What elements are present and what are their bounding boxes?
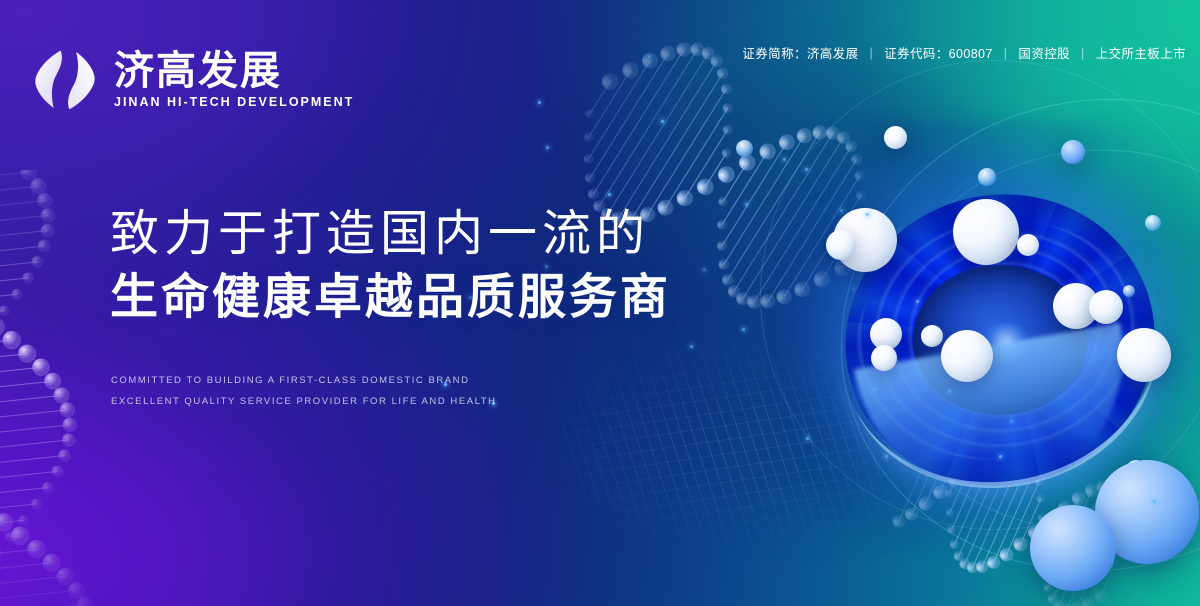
page-title: 致力于打造国内一流的 生命健康卓越品质服务商 xyxy=(110,206,671,326)
brand-logo[interactable]: 济高发展 JINAN HI-TECH DEVELOPMENT xyxy=(30,45,354,115)
jinan-hi-tech-diamond-logo-icon xyxy=(30,45,100,115)
stock-info-item: 证券代码：600807 xyxy=(884,43,993,62)
stock-info-bar: 证券简称：济高发展|证券代码：600807|国资控股|上交所主板上市 xyxy=(742,43,1186,62)
hero-banner: 济高发展 JINAN HI-TECH DEVELOPMENT 证券简称：济高发展… xyxy=(0,0,1200,606)
stock-info-item: 国资控股 xyxy=(1018,43,1070,62)
stock-info-item: 上交所主板上市 xyxy=(1096,43,1186,62)
stock-info-item: 证券简称：济高发展 xyxy=(742,43,858,62)
headline-line-2: 生命健康卓越品质服务商 xyxy=(110,270,671,327)
brand-logo-text: 济高发展 JINAN HI-TECH DEVELOPMENT xyxy=(114,51,354,109)
stock-info-separator: | xyxy=(1081,46,1085,60)
headline-line-1: 致力于打造国内一流的 xyxy=(110,206,671,264)
subtitle-line-2: EXCELLENT QUALITY SERVICE PROVIDER FOR L… xyxy=(111,391,497,412)
stock-info-separator: | xyxy=(869,46,873,60)
stock-info-separator: | xyxy=(1004,46,1008,60)
banner-content: 济高发展 JINAN HI-TECH DEVELOPMENT 证券简称：济高发展… xyxy=(0,0,1200,606)
subtitle: COMMITTED TO BUILDING A FIRST-CLASS DOME… xyxy=(111,370,497,412)
subtitle-line-1: COMMITTED TO BUILDING A FIRST-CLASS DOME… xyxy=(111,370,497,391)
brand-name-en: JINAN HI-TECH DEVELOPMENT xyxy=(114,95,354,109)
brand-name-cn: 济高发展 xyxy=(114,51,354,92)
